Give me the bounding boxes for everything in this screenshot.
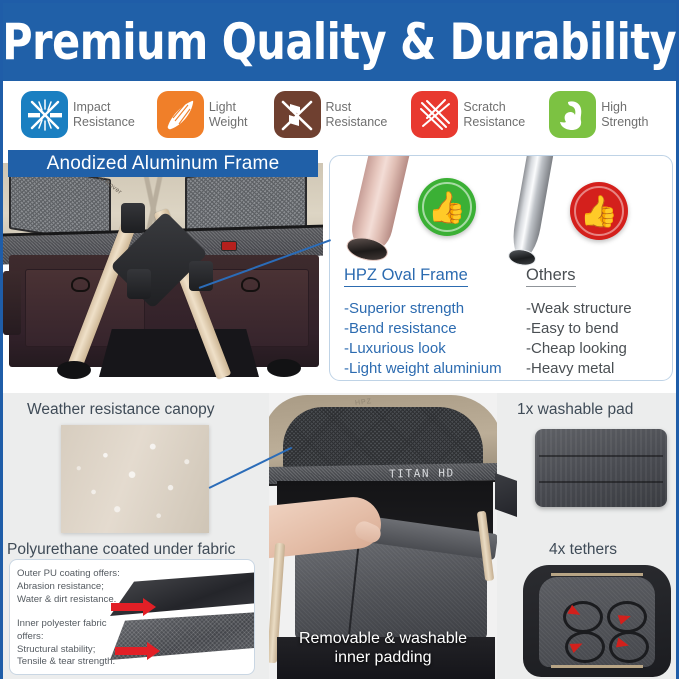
comparison-columns: HPZ Oval Frame -Superior strength -Bend …: [330, 266, 672, 381]
washable-pad-title: 1x washable pad: [517, 401, 633, 419]
anodized-frame-ribbon: Anodized Aluminum Frame: [8, 150, 318, 177]
d-ring: [71, 277, 90, 292]
feature-label: Rust Resistance: [326, 100, 388, 130]
inner-padding-photo: HPZ TITAN HD Removable & washable inner …: [269, 393, 497, 679]
side-bag: [3, 271, 21, 335]
comparison-column-hpz: HPZ Oval Frame -Superior strength -Bend …: [344, 266, 520, 379]
comparison-heading-others: Others: [526, 266, 576, 287]
list-item: -Superior strength: [344, 299, 520, 319]
feature-label: Scratch Resistance: [463, 100, 525, 130]
frame-bar: [551, 665, 643, 668]
list-item: -Easy to bend: [526, 319, 672, 339]
ribbon-label: Anodized Aluminum Frame: [47, 153, 280, 175]
release-button: [221, 241, 237, 251]
pu-fabric-diagram: Outer PU coating offers:Abrasion resista…: [9, 559, 255, 675]
frame-clamp: [121, 203, 145, 233]
tethers-photo: [523, 565, 671, 677]
others-drawback-list: -Weak structure -Easy to bend -Cheap loo…: [526, 299, 672, 379]
folded-stroller-photo: HPZ Pet Rover: [3, 163, 323, 385]
feature-label: High Strength: [601, 100, 648, 130]
frame-bar: [551, 573, 643, 576]
under-basket: [99, 329, 259, 377]
list-item: -Bend resistance: [344, 319, 520, 339]
rust-resistance-icon: [274, 91, 321, 138]
others-round-tube: [509, 155, 554, 261]
list-item: -Light weight aluminium: [344, 359, 520, 379]
frame-clamp: [127, 269, 151, 299]
impact-resistance-icon: [21, 91, 68, 138]
inner-layer-callout: Inner polyester fabricoffers:Structural …: [17, 618, 115, 669]
feature-light-weight: Light Weight: [157, 91, 248, 138]
tether-strap: [563, 601, 603, 633]
frame-comparison-panel: 👍 👎 HPZ Oval Frame -Superior strength -B…: [329, 155, 673, 381]
wheel: [267, 359, 301, 377]
model-badge: TITAN HD: [389, 466, 455, 480]
tube-illustrations: 👍 👎: [330, 156, 672, 264]
hpz-benefit-list: -Superior strength -Bend resistance -Lux…: [344, 299, 520, 379]
header-banner: Premium Quality & Durability: [3, 3, 676, 81]
comparison-column-others: Others -Weak structure -Easy to bend -Ch…: [526, 266, 672, 379]
list-item: -Luxurious look: [344, 339, 520, 359]
washable-pad-photo: [535, 429, 667, 507]
tube-cap: [507, 247, 537, 268]
tube-cap: [344, 234, 390, 265]
thumbs-down-icon: 👎: [570, 182, 628, 240]
hpz-oval-tube: [347, 155, 411, 256]
wheel: [57, 361, 91, 379]
high-strength-bicep-icon: [549, 91, 596, 138]
list-item: -Heavy metal: [526, 359, 672, 379]
feature-impact-resistance: Impact Resistance: [21, 91, 135, 138]
feature-strip: Impact Resistance Light Weight: [3, 81, 676, 148]
tethers-title: 4x tethers: [549, 541, 617, 559]
feature-label: Light Weight: [209, 100, 248, 130]
feather-light-weight-icon: [157, 91, 204, 138]
d-ring: [241, 277, 260, 292]
comparison-heading-hpz: HPZ Oval Frame: [344, 266, 468, 287]
feature-scratch-resistance: Scratch Resistance: [411, 91, 525, 138]
feature-label: Impact Resistance: [73, 100, 135, 130]
inner-padding-caption: Removable & washable inner padding: [269, 629, 497, 667]
list-item: -Weak structure: [526, 299, 672, 319]
feature-high-strength: High Strength: [549, 91, 648, 138]
page-title: Premium Quality & Durability: [3, 17, 677, 67]
weather-canopy-title: Weather resistance canopy: [27, 401, 215, 419]
pu-coating-title: Polyurethane coated under fabric: [7, 541, 235, 559]
infographic-root: Premium Quality & Durability: [0, 0, 679, 679]
scratch-resistance-icon: [411, 91, 458, 138]
canopy-mesh-window: [283, 407, 483, 469]
thumbs-up-icon: 👍: [418, 178, 476, 236]
water-beading-fabric-photo: [61, 425, 209, 533]
feature-rust-resistance: Rust Resistance: [274, 91, 388, 138]
list-item: -Cheap looking: [526, 339, 672, 359]
outer-layer-callout: Outer PU coating offers:Abrasion resista…: [17, 568, 120, 606]
